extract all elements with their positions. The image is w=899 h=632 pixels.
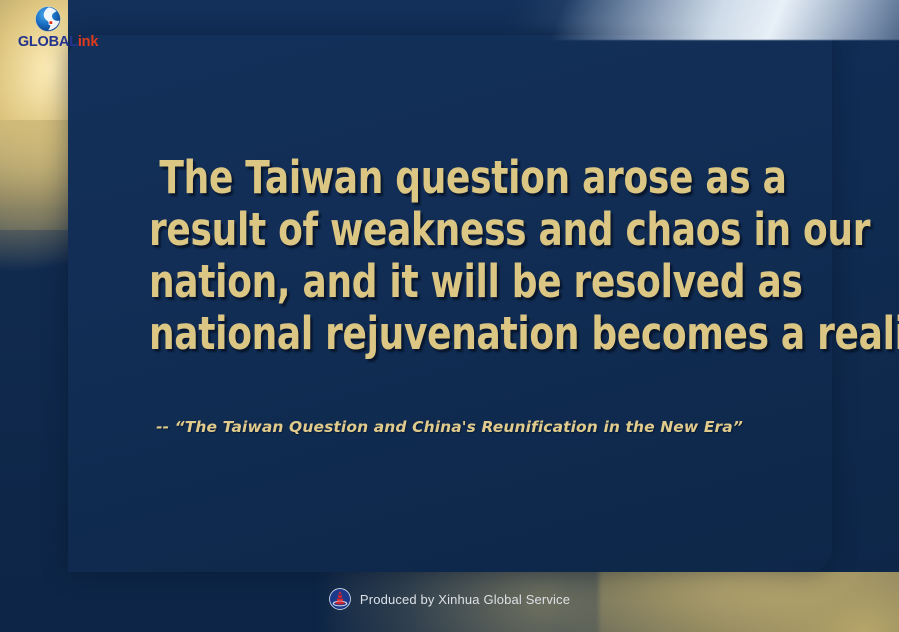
quote-line-3: nation, and it will be resolved as (149, 256, 797, 308)
poster-canvas: GLOBALink The Taiwan question arose as a… (0, 0, 899, 632)
footer: Produced by Xinhua Global Service (0, 588, 899, 610)
quote-line-2: result of weakness and chaos in our (149, 204, 797, 256)
xinhua-pagoda-icon (329, 588, 351, 610)
quote-attribution: -- “The Taiwan Question and China's Reun… (0, 418, 899, 436)
quote-line-1: The Taiwan question arose as a (149, 152, 797, 204)
background-ribbon (549, 0, 899, 40)
quote-line-4: national rejuvenation becomes a reality. (149, 308, 797, 360)
globalink-logo[interactable]: GLOBALink (8, 2, 108, 56)
globalink-wordmark-primary: GLOBAL (18, 34, 78, 50)
footer-credit: Produced by Xinhua Global Service (360, 592, 570, 607)
quote-block: The Taiwan question arose as a result of… (68, 152, 878, 360)
globalink-wordmark: GLOBALink (8, 34, 108, 50)
globe-icon (34, 5, 62, 33)
globalink-wordmark-secondary: ink (78, 34, 98, 50)
